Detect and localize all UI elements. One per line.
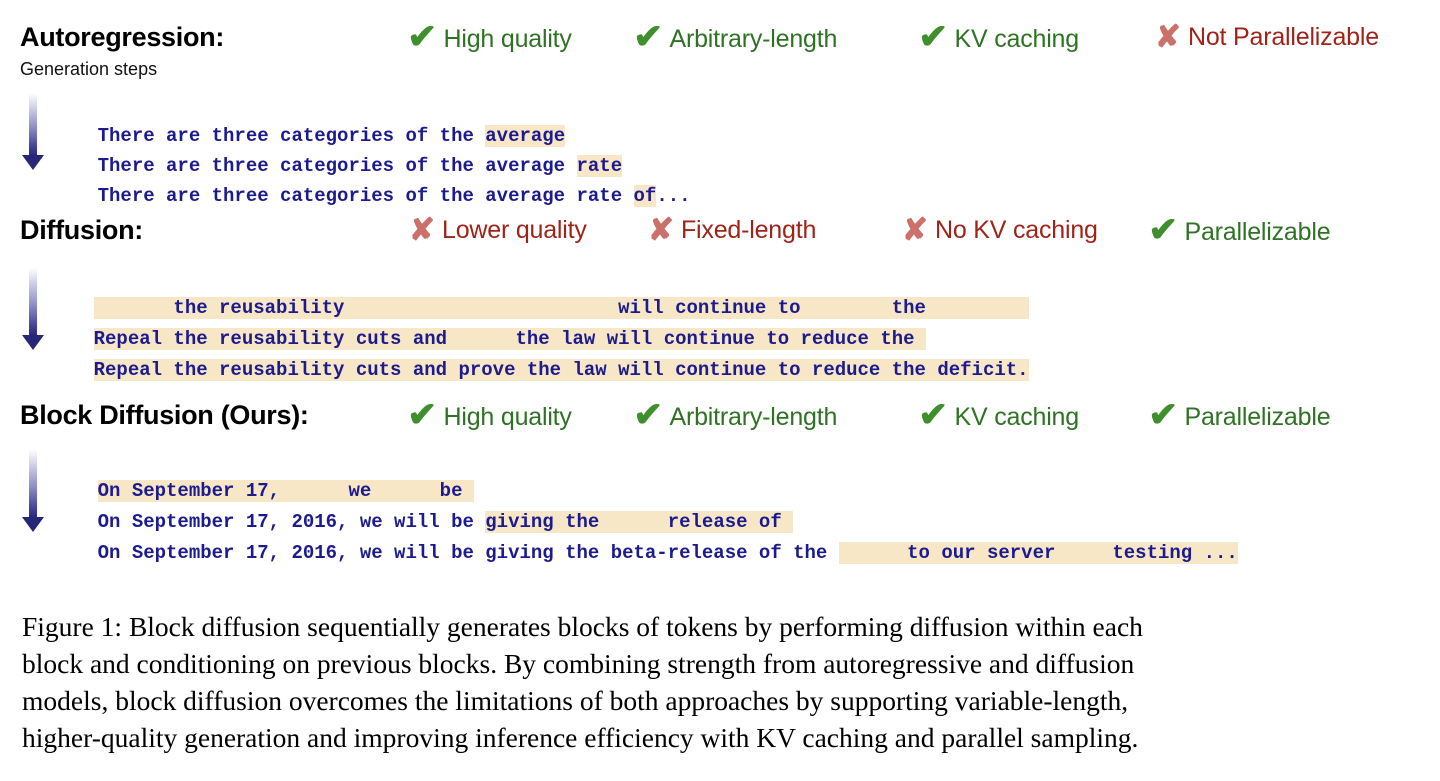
section-title-autoregression: Autoregression:: [20, 22, 224, 53]
badge-label: Arbitrary-length: [670, 405, 838, 430]
badge-label: Lower quality: [442, 218, 587, 243]
caption-line: models, block diffusion overcomes the li…: [22, 682, 1418, 719]
cross-icon: ✘: [648, 214, 674, 245]
badge-label: Parallelizable: [1185, 220, 1331, 245]
check-icon: ✔: [918, 20, 948, 54]
caption-line: Figure 1: Block diffusion sequentially g…: [22, 608, 1418, 645]
badge-label: Parallelizable: [1185, 405, 1331, 430]
generation-arrow-diffusion: [22, 268, 44, 350]
arrow-shaft: [29, 268, 37, 336]
badge-label: Fixed-length: [681, 218, 816, 243]
caption-line: higher-quality generation and improving …: [22, 719, 1418, 756]
generation-arrow-block-diffusion: [22, 450, 44, 532]
token-row: Repeal the reusability cuts and prove th…: [48, 331, 1029, 409]
cross-icon: ✘: [1155, 21, 1181, 52]
arrow-head-icon: [22, 517, 44, 532]
section-title-diffusion: Diffusion:: [20, 215, 143, 246]
check-icon: ✔: [1148, 398, 1178, 432]
token-segment-highlighted: to our server testing ...: [839, 542, 1238, 564]
token-segment: There are three categories of the averag…: [98, 185, 634, 207]
badge-fixed-length: ✘ Fixed-length: [648, 215, 816, 246]
badge-lower-quality: ✘ Lower quality: [409, 215, 587, 246]
check-icon: ✔: [407, 20, 437, 54]
section-subtitle-generation-steps: Generation steps: [20, 59, 157, 80]
check-icon: ✔: [407, 398, 437, 432]
figure-block-diffusion: Autoregression: Generation steps ✔ High …: [0, 0, 1440, 781]
badge-label: Not Parallelizable: [1188, 25, 1379, 50]
badge-label: High quality: [444, 405, 572, 430]
badge-label: High quality: [444, 27, 572, 52]
badge-label: Arbitrary-length: [670, 27, 838, 52]
token-segment: On September 17, 2016, we will be giving…: [98, 542, 839, 564]
generation-arrow-autoregression: [22, 94, 44, 170]
badge-label: No KV caching: [935, 218, 1098, 243]
check-icon: ✔: [918, 398, 948, 432]
token-segment-ellipsis: ...: [656, 185, 690, 207]
badge-kv-caching: ✔ KV caching: [919, 22, 1079, 56]
badge-arbitrary-length: ✔ Arbitrary-length: [634, 400, 837, 434]
check-icon: ✔: [633, 20, 663, 54]
token-segment-highlighted: of: [634, 185, 657, 207]
token-row: On September 17, 2016, we will be giving…: [52, 514, 1238, 592]
badge-not-parallelizable: ✘ Not Parallelizable: [1155, 22, 1379, 53]
section-title-block-diffusion: Block Diffusion (Ours):: [20, 400, 309, 431]
badge-kv-caching: ✔ KV caching: [919, 400, 1079, 434]
badge-no-kv-caching: ✘ No KV caching: [902, 215, 1098, 246]
cross-icon: ✘: [409, 214, 435, 245]
arrow-head-icon: [22, 155, 44, 170]
figure-caption: Figure 1: Block diffusion sequentially g…: [22, 608, 1418, 756]
badge-parallelizable: ✔ Parallelizable: [1149, 400, 1330, 434]
arrow-head-icon: [22, 335, 44, 350]
check-icon: ✔: [1148, 213, 1178, 247]
token-row: There are three categories of the averag…: [52, 157, 691, 235]
caption-line: block and conditioning on previous block…: [22, 645, 1418, 682]
badge-parallelizable: ✔ Parallelizable: [1149, 215, 1330, 249]
check-icon: ✔: [633, 398, 663, 432]
badge-high-quality: ✔ High quality: [408, 400, 572, 434]
badge-label: KV caching: [955, 405, 1079, 430]
cross-icon: ✘: [902, 214, 928, 245]
badge-arbitrary-length: ✔ Arbitrary-length: [634, 22, 837, 56]
arrow-shaft: [29, 94, 37, 156]
badge-label: KV caching: [955, 27, 1079, 52]
token-segment-highlighted: Repeal the reusability cuts and prove th…: [94, 359, 1029, 381]
badge-high-quality: ✔ High quality: [408, 22, 572, 56]
arrow-shaft: [29, 450, 37, 518]
